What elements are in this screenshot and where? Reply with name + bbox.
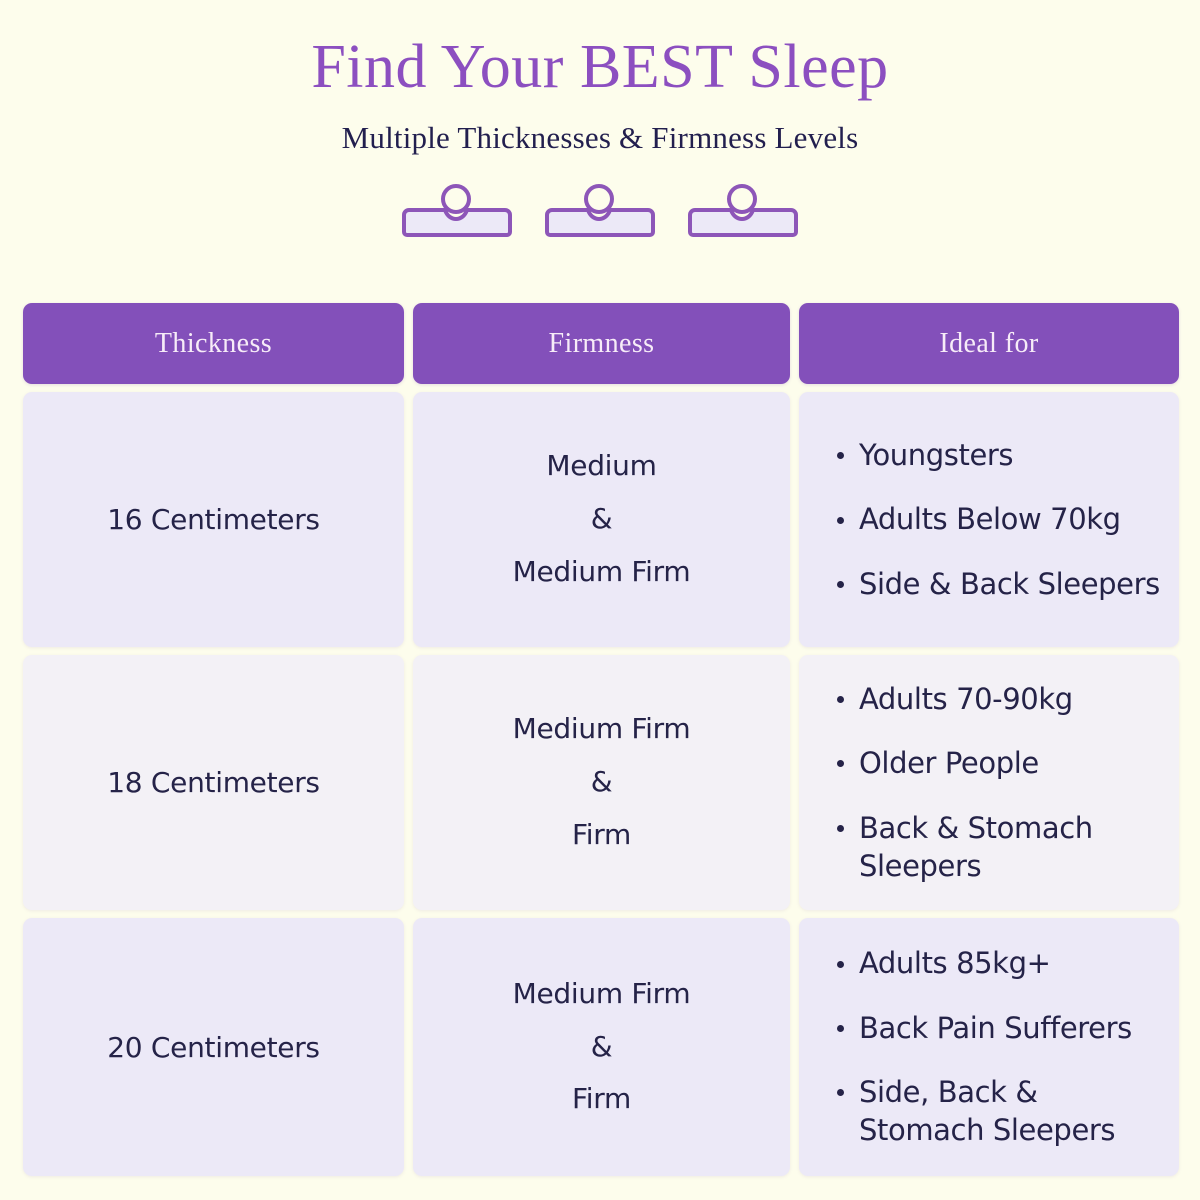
list-item: Adults Below 70kg xyxy=(837,500,1161,538)
firmness-line: Medium Firm xyxy=(513,557,691,588)
column-header-firmness: Firmness xyxy=(413,303,790,384)
list-item-label: Youngsters xyxy=(859,438,1013,472)
column-header-ideal-for: Ideal for xyxy=(799,303,1179,384)
list-item: Side & Back Sleepers xyxy=(837,565,1161,603)
list-item-label: Adults 70-90kg xyxy=(859,682,1073,716)
thickness-value: 18 Centimeters xyxy=(107,766,319,799)
list-item-label: Adults 85kg+ xyxy=(859,946,1050,980)
firmness-line: Firm xyxy=(572,820,631,851)
thickness-value: 20 Centimeters xyxy=(107,1031,319,1064)
comparison-table: Thickness Firmness Ideal for 16 Centimet… xyxy=(23,303,1178,1176)
firmness-line: Medium xyxy=(546,451,656,482)
column-header-label: Ideal for xyxy=(939,328,1038,360)
ideal-for-list: Youngsters Adults Below 70kg Side & Back… xyxy=(799,436,1179,603)
cell-thickness: 20 Centimeters xyxy=(23,918,404,1176)
bullet-dot-icon xyxy=(837,517,844,524)
list-item: Adults 70-90kg xyxy=(837,680,1161,718)
cell-ideal-for: Adults 85kg+ Back Pain Sufferers Side, B… xyxy=(799,918,1179,1176)
firmness-line: & xyxy=(591,1032,613,1063)
thickness-value: 16 Centimeters xyxy=(107,503,319,536)
ideal-for-list: Adults 70-90kg Older People Back & Stoma… xyxy=(799,680,1179,885)
firmness-value: Medium & Medium Firm xyxy=(513,451,691,587)
column-header-label: Firmness xyxy=(549,328,655,360)
list-item: Back & Stomach Sleepers xyxy=(837,809,1161,886)
firmness-line: Medium Firm xyxy=(513,714,691,745)
bullet-dot-icon xyxy=(837,1089,844,1096)
firmness-line: Firm xyxy=(572,1084,631,1115)
cell-thickness: 16 Centimeters xyxy=(23,392,404,647)
column-header-thickness: Thickness xyxy=(23,303,404,384)
bullet-dot-icon xyxy=(837,581,844,588)
ideal-for-list: Adults 85kg+ Back Pain Sufferers Side, B… xyxy=(799,944,1179,1149)
list-item: Side, Back & Stomach Sleepers xyxy=(837,1073,1161,1150)
list-item-label: Back Pain Sufferers xyxy=(859,1011,1132,1045)
bullet-dot-icon xyxy=(837,452,844,459)
table-row: 20 Centimeters Medium Firm & Firm Adults… xyxy=(23,918,1178,1176)
mattress-sleeper-icon xyxy=(685,182,801,240)
list-item-label: Older People xyxy=(859,746,1039,780)
hero-section: Find Your BEST Sleep Multiple Thicknesse… xyxy=(0,0,1200,240)
firmness-line: & xyxy=(591,767,613,798)
list-item: Older People xyxy=(837,744,1161,782)
firmness-value: Medium Firm & Firm xyxy=(513,979,691,1115)
cell-ideal-for: Youngsters Adults Below 70kg Side & Back… xyxy=(799,392,1179,647)
list-item: Back Pain Sufferers xyxy=(837,1009,1161,1047)
firmness-line: Medium Firm xyxy=(513,979,691,1010)
firmness-value: Medium Firm & Firm xyxy=(513,714,691,850)
mattress-icon-row xyxy=(0,182,1200,240)
bullet-dot-icon xyxy=(837,825,844,832)
list-item-label: Back & Stomach Sleepers xyxy=(859,811,1093,883)
cell-firmness: Medium Firm & Firm xyxy=(413,655,790,910)
firmness-line: & xyxy=(591,504,613,535)
table-row: 18 Centimeters Medium Firm & Firm Adults… xyxy=(23,655,1178,910)
bullet-dot-icon xyxy=(837,760,844,767)
bullet-dot-icon xyxy=(837,961,844,968)
infographic-page: Find Your BEST Sleep Multiple Thicknesse… xyxy=(0,0,1200,1200)
table-row: 16 Centimeters Medium & Medium Firm Youn… xyxy=(23,392,1178,647)
list-item: Youngsters xyxy=(837,436,1161,474)
cell-firmness: Medium & Medium Firm xyxy=(413,392,790,647)
page-subtitle: Multiple Thicknesses & Firmness Levels xyxy=(0,120,1200,156)
list-item-label: Adults Below 70kg xyxy=(859,502,1121,536)
list-item-label: Side & Back Sleepers xyxy=(859,567,1160,601)
cell-firmness: Medium Firm & Firm xyxy=(413,918,790,1176)
table-header-row: Thickness Firmness Ideal for xyxy=(23,303,1178,384)
list-item-label: Side, Back & Stomach Sleepers xyxy=(859,1075,1115,1147)
column-header-label: Thickness xyxy=(155,328,272,360)
cell-ideal-for: Adults 70-90kg Older People Back & Stoma… xyxy=(799,655,1179,910)
cell-thickness: 18 Centimeters xyxy=(23,655,404,910)
bullet-dot-icon xyxy=(837,1025,844,1032)
list-item: Adults 85kg+ xyxy=(837,944,1161,982)
mattress-sleeper-icon xyxy=(399,182,515,240)
page-title: Find Your BEST Sleep xyxy=(0,36,1200,98)
mattress-sleeper-icon xyxy=(542,182,658,240)
bullet-dot-icon xyxy=(837,696,844,703)
